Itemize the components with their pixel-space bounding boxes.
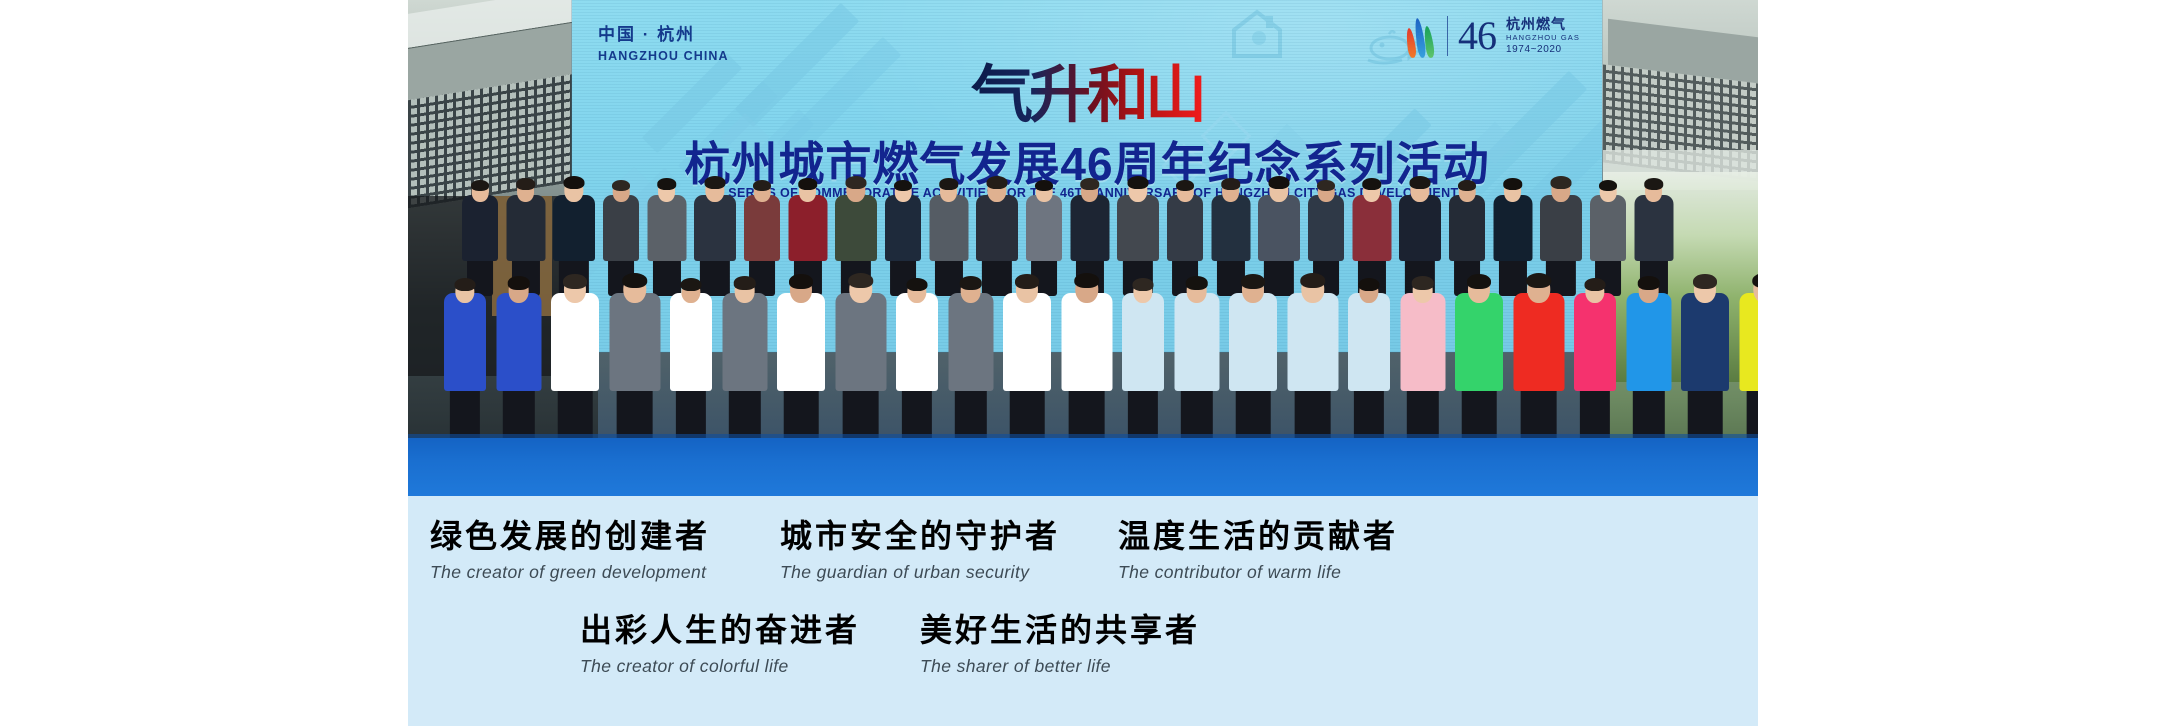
company-name-cn: 杭州燃气 bbox=[1506, 16, 1580, 34]
location-cn: 中国 · 杭州 bbox=[598, 24, 729, 45]
front-row bbox=[408, 262, 1758, 444]
event-wordmark: 气升和山 bbox=[971, 44, 1203, 134]
slogan-en: The guardian of urban security bbox=[780, 562, 1118, 583]
hangzhou-gas-logo: 46 杭州燃气 HANGZHOU GAS 1974~2020 bbox=[1407, 14, 1580, 58]
slogan-row-2: 出彩人生的奋进者 The creator of colorful life 美好… bbox=[408, 612, 1930, 677]
person-silhouette bbox=[896, 268, 938, 444]
person-silhouette bbox=[609, 268, 660, 444]
person-silhouette bbox=[1348, 268, 1390, 444]
slogan-cn: 出彩人生的奋进者 bbox=[580, 612, 920, 649]
group-photo: 中国 · 杭州 HANGZHOU CHINA 46 杭州燃气 HANGZHOU … bbox=[408, 0, 1758, 496]
person-silhouette bbox=[1455, 268, 1503, 444]
flame-icon bbox=[1407, 14, 1437, 58]
slogan-en: The contributor of warm life bbox=[1118, 562, 1448, 583]
person-silhouette bbox=[1061, 268, 1112, 444]
page-root: 中国 · 杭州 HANGZHOU CHINA 46 杭州燃气 HANGZHOU … bbox=[0, 0, 2179, 726]
slogan-cn: 温度生活的贡献者 bbox=[1118, 518, 1448, 555]
person-silhouette bbox=[1287, 268, 1338, 444]
person-silhouette bbox=[551, 268, 599, 444]
slogan-row-1: 绿色发展的创建者 The creator of green developmen… bbox=[408, 518, 1780, 583]
person-silhouette bbox=[1400, 268, 1445, 444]
slogan-cn: 绿色发展的创建者 bbox=[430, 518, 780, 555]
slogan-en: The creator of colorful life bbox=[580, 656, 920, 677]
poster-content: 中国 · 杭州 HANGZHOU CHINA 46 杭州燃气 HANGZHOU … bbox=[408, 0, 1758, 726]
people-group bbox=[408, 176, 1758, 444]
person-silhouette bbox=[948, 268, 993, 444]
person-silhouette bbox=[1174, 268, 1219, 444]
person-silhouette bbox=[1626, 268, 1671, 444]
slogan-colorful-life: 出彩人生的奋进者 The creator of colorful life bbox=[580, 612, 920, 677]
slogan-better-life: 美好生活的共享者 The sharer of better life bbox=[920, 612, 1260, 677]
person-silhouette bbox=[1574, 268, 1616, 444]
person-silhouette bbox=[496, 268, 541, 444]
person-silhouette bbox=[1739, 268, 1758, 444]
person-silhouette bbox=[1003, 268, 1051, 444]
slogan-warm-life: 温度生活的贡献者 The contributor of warm life bbox=[1118, 518, 1448, 583]
person-silhouette bbox=[1513, 268, 1564, 444]
location-header: 中国 · 杭州 HANGZHOU CHINA bbox=[598, 24, 729, 63]
person-silhouette bbox=[1681, 268, 1729, 444]
person-silhouette bbox=[1122, 268, 1164, 444]
slogan-en: The sharer of better life bbox=[920, 656, 1260, 677]
company-name-en: HANGZHOU GAS bbox=[1506, 33, 1580, 42]
slogan-urban-security: 城市安全的守护者 The guardian of urban security bbox=[780, 518, 1118, 583]
person-silhouette bbox=[1229, 268, 1277, 444]
logo-text-block: 杭州燃气 HANGZHOU GAS 1974~2020 bbox=[1506, 16, 1580, 56]
slogan-en: The creator of green development bbox=[430, 562, 780, 583]
person-silhouette bbox=[722, 268, 767, 444]
logo-years: 1974~2020 bbox=[1506, 44, 1580, 57]
person-silhouette bbox=[777, 268, 825, 444]
logo-divider bbox=[1447, 16, 1448, 56]
slogan-cn: 美好生活的共享者 bbox=[920, 612, 1260, 649]
slogan-green-development: 绿色发展的创建者 The creator of green developmen… bbox=[430, 518, 780, 583]
person-silhouette bbox=[835, 268, 886, 444]
slogan-panel: 绿色发展的创建者 The creator of green developmen… bbox=[408, 496, 1758, 726]
location-en: HANGZHOU CHINA bbox=[598, 49, 729, 63]
person-silhouette bbox=[444, 268, 486, 444]
stage-floor bbox=[408, 438, 1758, 496]
person-silhouette bbox=[670, 268, 712, 444]
slogan-cn: 城市安全的守护者 bbox=[780, 518, 1118, 555]
anniversary-number: 46 bbox=[1458, 16, 1496, 56]
